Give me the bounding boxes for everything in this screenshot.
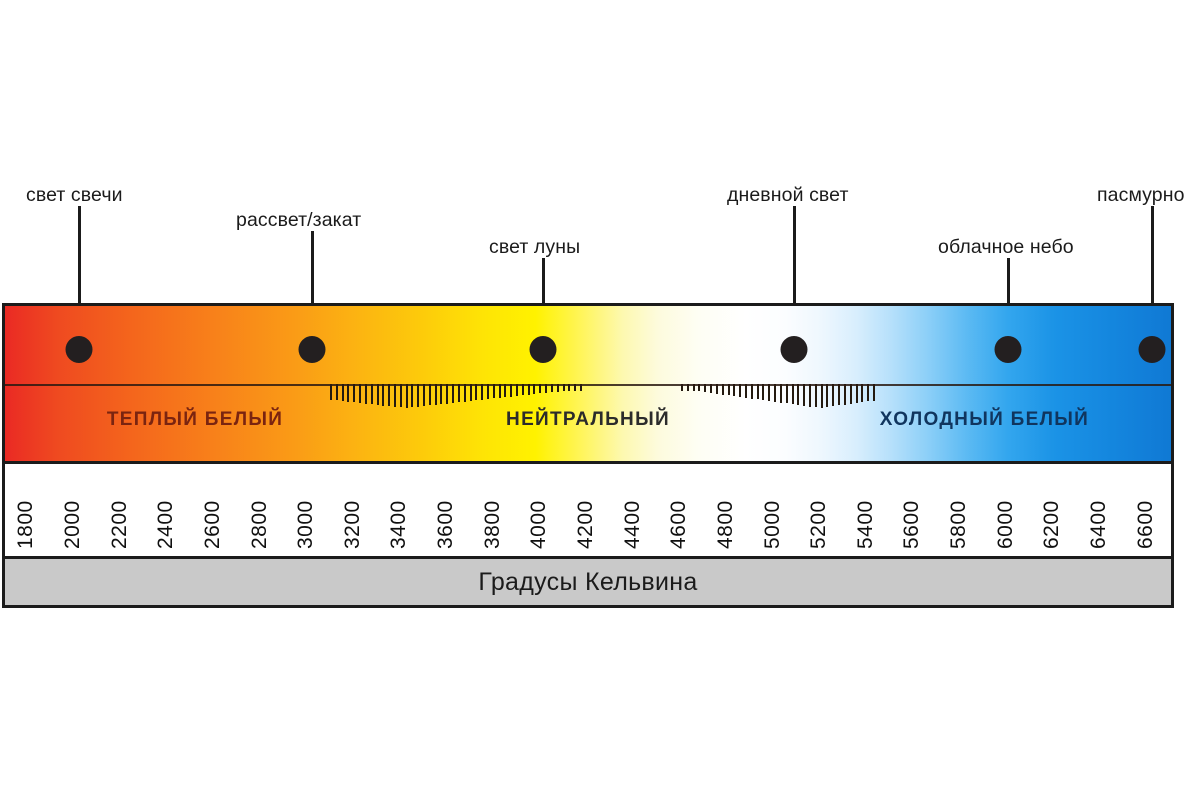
ruler-tick (487, 384, 489, 399)
ruler-tick (499, 384, 501, 398)
color-temperature-diagram: свет свечирассвет/закатсвет луныдневной … (0, 0, 1200, 800)
band-divider-line (5, 384, 1171, 386)
ruler-tick (826, 384, 828, 407)
ruler-tick (856, 384, 858, 403)
color-temperature-gradient-band: ТЕПЛЫЙ БЕЛЫЙНЕЙТРАЛЬНЫЙХОЛОДНЫЙ БЕЛЫЙ (5, 306, 1171, 461)
ruler-tick (815, 384, 817, 407)
ruler-tick (832, 384, 834, 406)
ruler-tick (394, 384, 396, 407)
ruler-tick (429, 384, 431, 405)
ruler-tick (780, 384, 782, 403)
kelvin-scale-figure: ТЕПЛЫЙ БЕЛЫЙНЕЙТРАЛЬНЫЙХОЛОДНЫЙ БЕЛЫЙ 18… (2, 303, 1174, 608)
callout-label: пасмурно (1097, 186, 1185, 206)
marker-dot (781, 336, 808, 363)
kelvin-tick-label: 2000 (62, 500, 83, 549)
kelvin-tick-label: 6600 (1135, 500, 1156, 549)
ruler-tick (844, 384, 846, 405)
kelvin-tick-label: 5200 (808, 500, 829, 549)
kelvin-tick-label: 2400 (155, 500, 176, 549)
marker-dot (1139, 336, 1166, 363)
marker-dot (299, 336, 326, 363)
kelvin-tick-label: 5400 (855, 500, 876, 549)
kelvin-tick-label: 6000 (995, 500, 1016, 549)
ruler-tick (359, 384, 361, 403)
callout-label: свет свечи (26, 186, 123, 206)
ruler-tick (861, 384, 863, 402)
ruler-tick (850, 384, 852, 404)
ruler-tick (406, 384, 408, 408)
kelvin-tick-label: 6400 (1088, 500, 1109, 549)
kelvin-tick-label: 3400 (388, 500, 409, 549)
ruler-tick (347, 384, 349, 402)
kelvin-tick-label: 4200 (575, 500, 596, 549)
ruler-tick (797, 384, 799, 405)
kelvin-tick-label: 2200 (109, 500, 130, 549)
ruler-tick (435, 384, 437, 405)
ruler-tick (342, 384, 344, 401)
caption-bar: Градусы Кельвина (5, 556, 1171, 605)
ruler-tick (446, 384, 448, 404)
ruler-tick (493, 384, 495, 398)
kelvin-tick-label: 5600 (901, 500, 922, 549)
ruler-tick (458, 384, 460, 402)
marker-dot (66, 336, 93, 363)
ruler-tick (786, 384, 788, 403)
ruler-tick (803, 384, 805, 406)
kelvin-tick-label: 3800 (482, 500, 503, 549)
ruler-tick (762, 384, 764, 400)
kelvin-tick-label: 1800 (15, 500, 36, 549)
ruler-tick (481, 384, 483, 400)
ruler-tick (751, 384, 753, 399)
caption-label: Градусы Кельвина (478, 568, 697, 597)
ruler-tick (353, 384, 355, 402)
ruler-tick (388, 384, 390, 406)
callout-label: свет луны (489, 238, 580, 258)
ruler-tick (464, 384, 466, 402)
kelvin-tick-label: 5800 (948, 500, 969, 549)
ruler-tick (330, 384, 332, 400)
ruler-tick-group (681, 384, 873, 410)
ruler-tick (371, 384, 373, 404)
kelvin-tick-label: 6200 (1041, 500, 1062, 549)
kelvin-tick-label: 3600 (435, 500, 456, 549)
ruler-tick (821, 384, 823, 408)
ruler-tick (377, 384, 379, 405)
callout-label: рассвет/закат (236, 211, 361, 231)
ruler-tick (774, 384, 776, 402)
kelvin-scale-row: 1800200022002400260028003000320034003600… (5, 461, 1171, 556)
kelvin-tick-label: 4800 (715, 500, 736, 549)
kelvin-tick-label: 2600 (202, 500, 223, 549)
ruler-tick (792, 384, 794, 404)
ruler-tick (873, 384, 875, 401)
ruler-tick (411, 384, 413, 407)
kelvin-tick-label: 3200 (342, 500, 363, 549)
kelvin-tick-label: 2800 (249, 500, 270, 549)
marker-dot (995, 336, 1022, 363)
ruler-tick-group (330, 384, 580, 410)
ruler-tick (768, 384, 770, 401)
kelvin-tick-label: 4400 (622, 500, 643, 549)
ruler-tick (336, 384, 338, 400)
ruler-tick (417, 384, 419, 407)
callout-label: облачное небо (938, 238, 1074, 258)
ruler-tick (757, 384, 759, 399)
ruler-tick (400, 384, 402, 407)
kelvin-tick-label: 3000 (295, 500, 316, 549)
ruler-tick (475, 384, 477, 400)
ruler-tick (365, 384, 367, 404)
band-label: ТЕПЛЫЙ БЕЛЫЙ (107, 410, 283, 429)
ruler-tick (440, 384, 442, 404)
ruler-tick (838, 384, 840, 405)
kelvin-tick-label: 4000 (528, 500, 549, 549)
ruler-tick (867, 384, 869, 401)
kelvin-tick-label: 4600 (668, 500, 689, 549)
marker-dot (530, 336, 557, 363)
ruler-tick (423, 384, 425, 406)
band-label: НЕЙТРАЛЬНЫЙ (506, 410, 670, 429)
ruler-tick (452, 384, 454, 403)
callout-label: дневной свет (727, 186, 849, 206)
ruler-tick (382, 384, 384, 406)
ruler-tick (809, 384, 811, 407)
ruler-tick (745, 384, 747, 398)
band-label: ХОЛОДНЫЙ БЕЛЫЙ (880, 410, 1089, 429)
ruler-tick (470, 384, 472, 401)
kelvin-tick-label: 5000 (762, 500, 783, 549)
